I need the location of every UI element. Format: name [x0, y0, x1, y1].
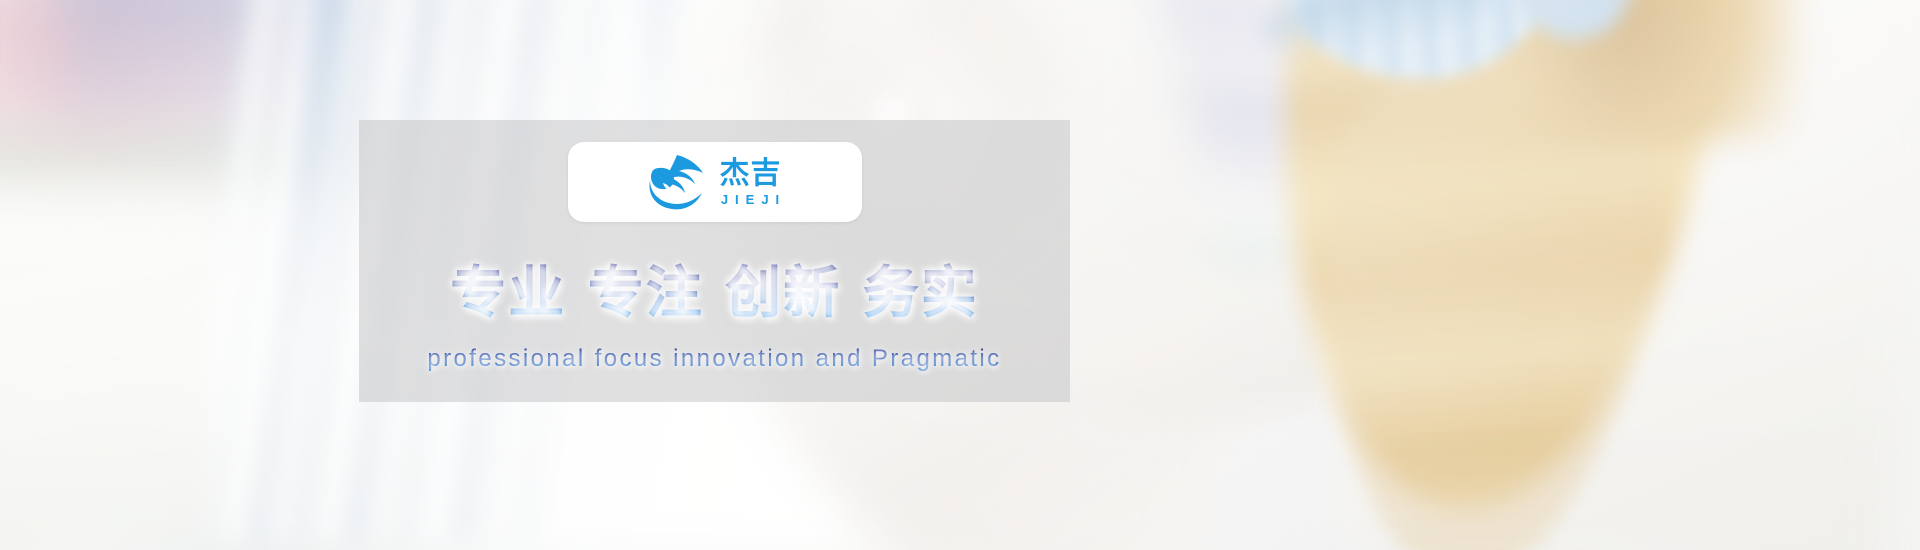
jieji-swoosh-icon	[643, 153, 705, 211]
subtitle-text: professional focus innovation and Pragma…	[427, 345, 1001, 372]
logo-name-en: JIEJI	[721, 193, 786, 206]
headline-text: 专业 专注 创新 务实	[450, 261, 979, 326]
logo-name-cn: 杰吉	[719, 159, 781, 189]
hero-banner: 杰吉 JIEJI 专业 专注 创新 务实 professional focus …	[0, 0, 1920, 550]
content-panel: 杰吉 JIEJI 专业 专注 创新 务实 professional focus …	[359, 120, 1070, 402]
logo-badge[interactable]: 杰吉 JIEJI	[568, 142, 862, 222]
subtitle: professional focus innovation and Pragma…	[427, 345, 1001, 373]
headline: 专业 专注 创新 务实	[450, 248, 979, 329]
logo-wordmark: 杰吉 JIEJI	[715, 159, 786, 206]
